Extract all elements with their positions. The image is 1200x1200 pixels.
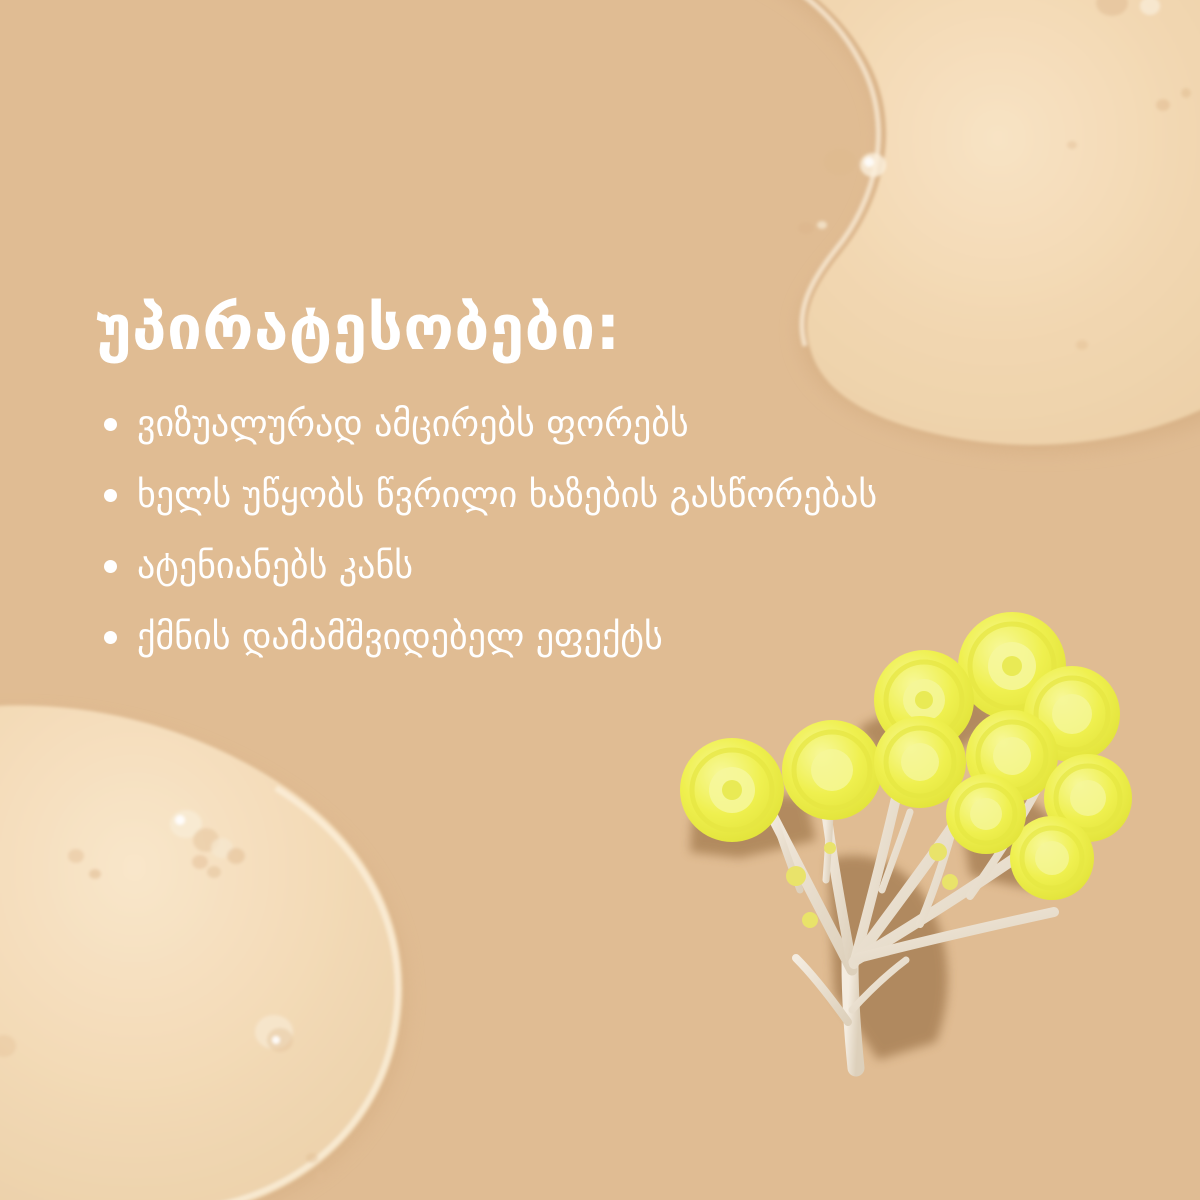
list-item: ხელს უწყობს წვრილი ხაზების გასწორებას (95, 473, 1095, 518)
flower-stems (762, 788, 1054, 1068)
benefit-text: ხელს უწყობს წვრილი ხაზების გასწორებას (137, 473, 877, 518)
list-item: ვიზუალურად ამცირებს ფორებს (95, 402, 1095, 447)
promo-poster: უპირატესობები: ვიზუალურად ამცირებს ფორებ… (0, 0, 1200, 1200)
benefits-list: ვიზუალურად ამცირებს ფორებს ხელს უწყობს წ… (95, 402, 1095, 660)
benefit-text: ქმნის დამამშვიდებელ ეფექტს (137, 615, 663, 660)
bullet-dot-icon (104, 631, 117, 644)
serum-blob-bottom-left (0, 705, 403, 1200)
page-title: უპირატესობები: (95, 295, 1095, 360)
flower-cast-shadow (690, 694, 1060, 1060)
benefit-text: ვიზუალურად ამცირებს ფორებს (137, 402, 689, 447)
list-item: ქმნის დამამშვიდებელ ეფექტს (95, 615, 1095, 660)
bullet-dot-icon (104, 418, 117, 431)
bullet-dot-icon (104, 489, 117, 502)
content-block: უპირატესობები: ვიზუალურად ამცირებს ფორებ… (95, 295, 1095, 686)
list-item: ატენიანებს კანს (95, 544, 1095, 589)
benefit-text: ატენიანებს კანს (137, 544, 413, 589)
bullet-dot-icon (104, 560, 117, 573)
serum-blob-bottom-left-shadow (0, 713, 406, 1200)
flower-buds (786, 821, 979, 928)
